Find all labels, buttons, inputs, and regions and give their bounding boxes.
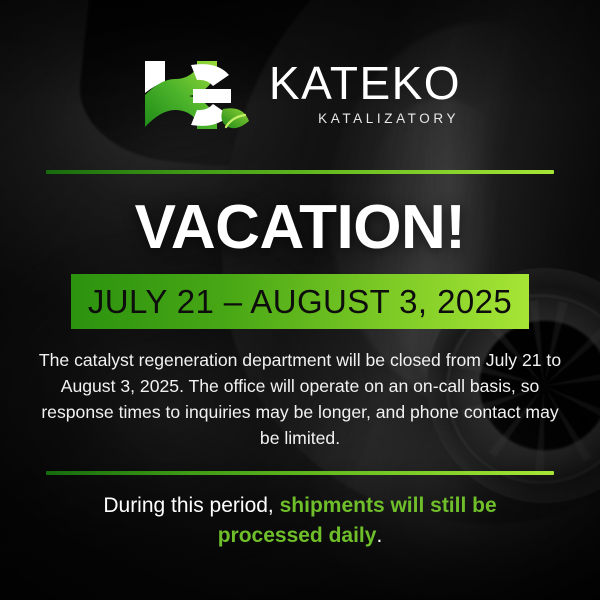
date-range-banner: JULY 21 – AUGUST 3, 2025 [71, 274, 529, 329]
closing-note: During this period, shipments will still… [50, 491, 550, 551]
brand-wordmark: KATEKO KATALIZATORY [269, 60, 461, 128]
poster-content: KATEKO KATALIZATORY VACATION! JULY 21 – … [0, 0, 600, 600]
vacation-announcement-poster: KATEKO KATALIZATORY VACATION! JULY 21 – … [0, 0, 600, 600]
kateko-ke-monogram-icon [139, 55, 251, 133]
closing-prefix: During this period, [103, 494, 279, 517]
divider-bottom [46, 471, 554, 475]
page-title: VACATION! [135, 196, 466, 260]
announcement-body: The catalyst regeneration department wil… [35, 347, 565, 451]
date-range-text: JULY 21 – AUGUST 3, 2025 [88, 285, 512, 319]
divider-top [46, 170, 554, 174]
brand-name: KATEKO [269, 60, 461, 106]
brand-tagline: KATALIZATORY [318, 110, 459, 128]
brand-logo: KATEKO KATALIZATORY [139, 52, 461, 136]
closing-suffix: . [376, 524, 382, 547]
